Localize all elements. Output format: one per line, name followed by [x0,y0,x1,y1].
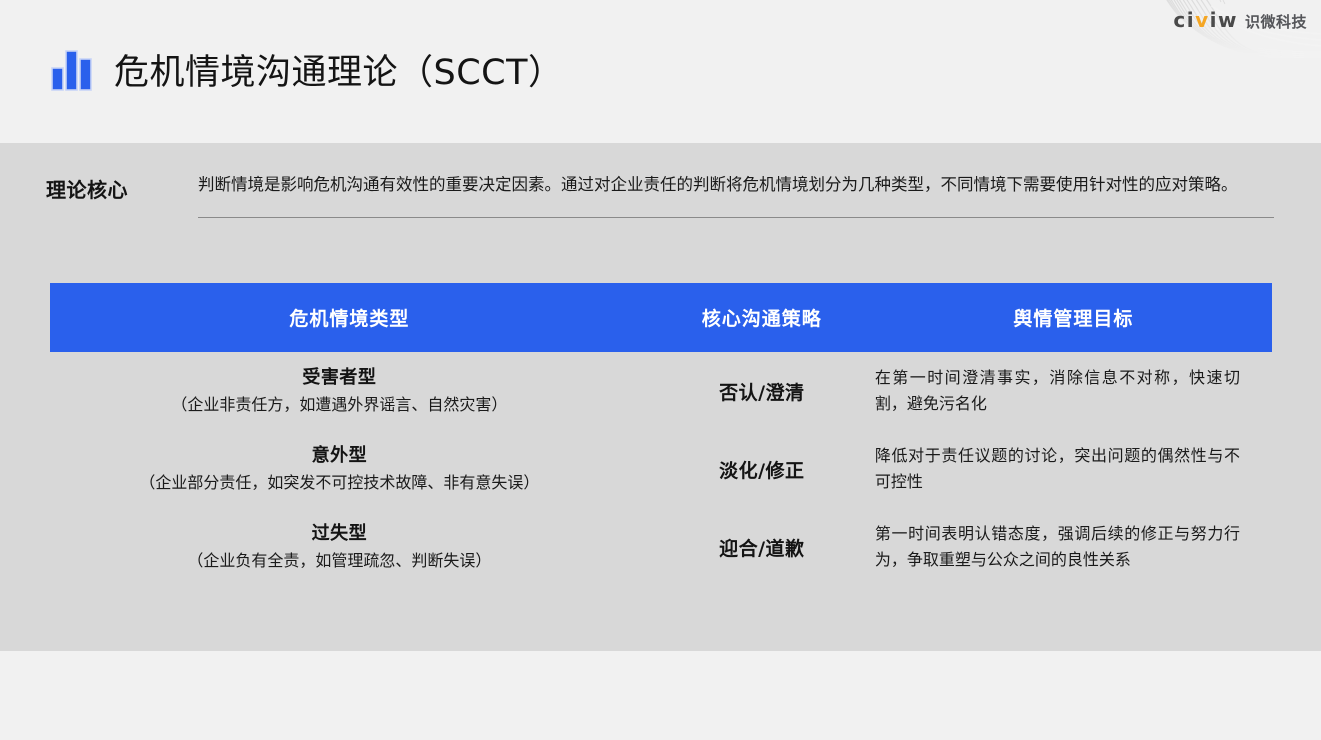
bar-chart-icon [46,46,96,94]
slide-footer [0,651,1321,740]
crisis-type-name: 受害者型 [60,365,619,391]
cell-strategy: 迎合/道歉 [649,528,875,567]
column-header-management-goal: 舆情管理目标 [875,304,1272,331]
brand-wordmark-part1: ci [1173,8,1195,32]
theory-core-text: 判断情境是影响危机沟通有效性的重要决定因素。通过对企业责任的判断将危机情境划分为… [198,172,1274,199]
slide-body: 理论核心 判断情境是影响危机沟通有效性的重要决定因素。通过对企业责任的判断将危机… [0,143,1321,651]
crisis-type-description: （企业部分责任，如突发不可控技术故障、非有意失误） [60,471,619,495]
theory-core-label: 理论核心 [46,172,198,203]
crisis-type-name: 意外型 [60,443,619,469]
brand-wordmark-latin: civiw [1173,10,1238,30]
section-divider [198,217,1274,218]
page-title: 危机情境沟通理论（SCCT） [114,44,563,95]
table-row: 意外型 （企业部分责任，如突发不可控技术故障、非有意失误） 淡化/修正 降低对于… [50,430,1272,508]
crisis-type-name: 过失型 [60,521,619,547]
brand-wordmark-part2: iw [1210,8,1238,32]
brand-wordmark-chinese: 识微科技 [1245,15,1307,30]
table-row: 过失型 （企业负有全责，如管理疏忽、判断失误） 迎合/道歉 第一时间表明认错态度… [50,508,1272,586]
brand-wordmark: civiw 识微科技 [1173,10,1307,30]
cell-management-goal: 在第一时间澄清事实，消除信息不对称，快速切割，避免污名化 [875,359,1272,423]
page-title-row: 危机情境沟通理论（SCCT） [46,44,563,95]
cell-strategy: 淡化/修正 [649,450,875,489]
page-header: civiw 识微科技 危机情境沟通理论（SCCT） [0,0,1321,143]
brand-logo: civiw 识微科技 [1081,0,1321,58]
column-header-crisis-type: 危机情境类型 [50,304,649,331]
theory-core-body: 判断情境是影响危机沟通有效性的重要决定因素。通过对企业责任的判断将危机情境划分为… [198,172,1274,218]
table-row: 受害者型 （企业非责任方，如遭遇外界谣言、自然灾害） 否认/澄清 在第一时间澄清… [50,352,1272,430]
crisis-type-description: （企业负有全责，如管理疏忽、判断失误） [60,549,619,573]
cell-management-goal: 降低对于责任议题的讨论，突出问题的偶然性与不可控性 [875,437,1272,501]
theory-core-section: 理论核心 判断情境是影响危机沟通有效性的重要决定因素。通过对企业责任的判断将危机… [46,172,1274,218]
cell-crisis-type: 受害者型 （企业非责任方，如遭遇外界谣言、自然灾害） [50,359,649,423]
brand-wordmark-accent: v [1195,8,1210,32]
cell-management-goal: 第一时间表明认错态度，强调后续的修正与努力行为，争取重塑与公众之间的良性关系 [875,515,1272,579]
crisis-type-description: （企业非责任方，如遭遇外界谣言、自然灾害） [60,393,619,417]
cell-crisis-type: 过失型 （企业负有全责，如管理疏忽、判断失误） [50,515,649,579]
table-header-row: 危机情境类型 核心沟通策略 舆情管理目标 [50,283,1272,352]
scct-table: 危机情境类型 核心沟通策略 舆情管理目标 受害者型 （企业非责任方，如遭遇外界谣… [50,283,1272,586]
cell-strategy: 否认/澄清 [649,372,875,411]
column-header-strategy: 核心沟通策略 [649,304,875,331]
cell-crisis-type: 意外型 （企业部分责任，如突发不可控技术故障、非有意失误） [50,437,649,501]
